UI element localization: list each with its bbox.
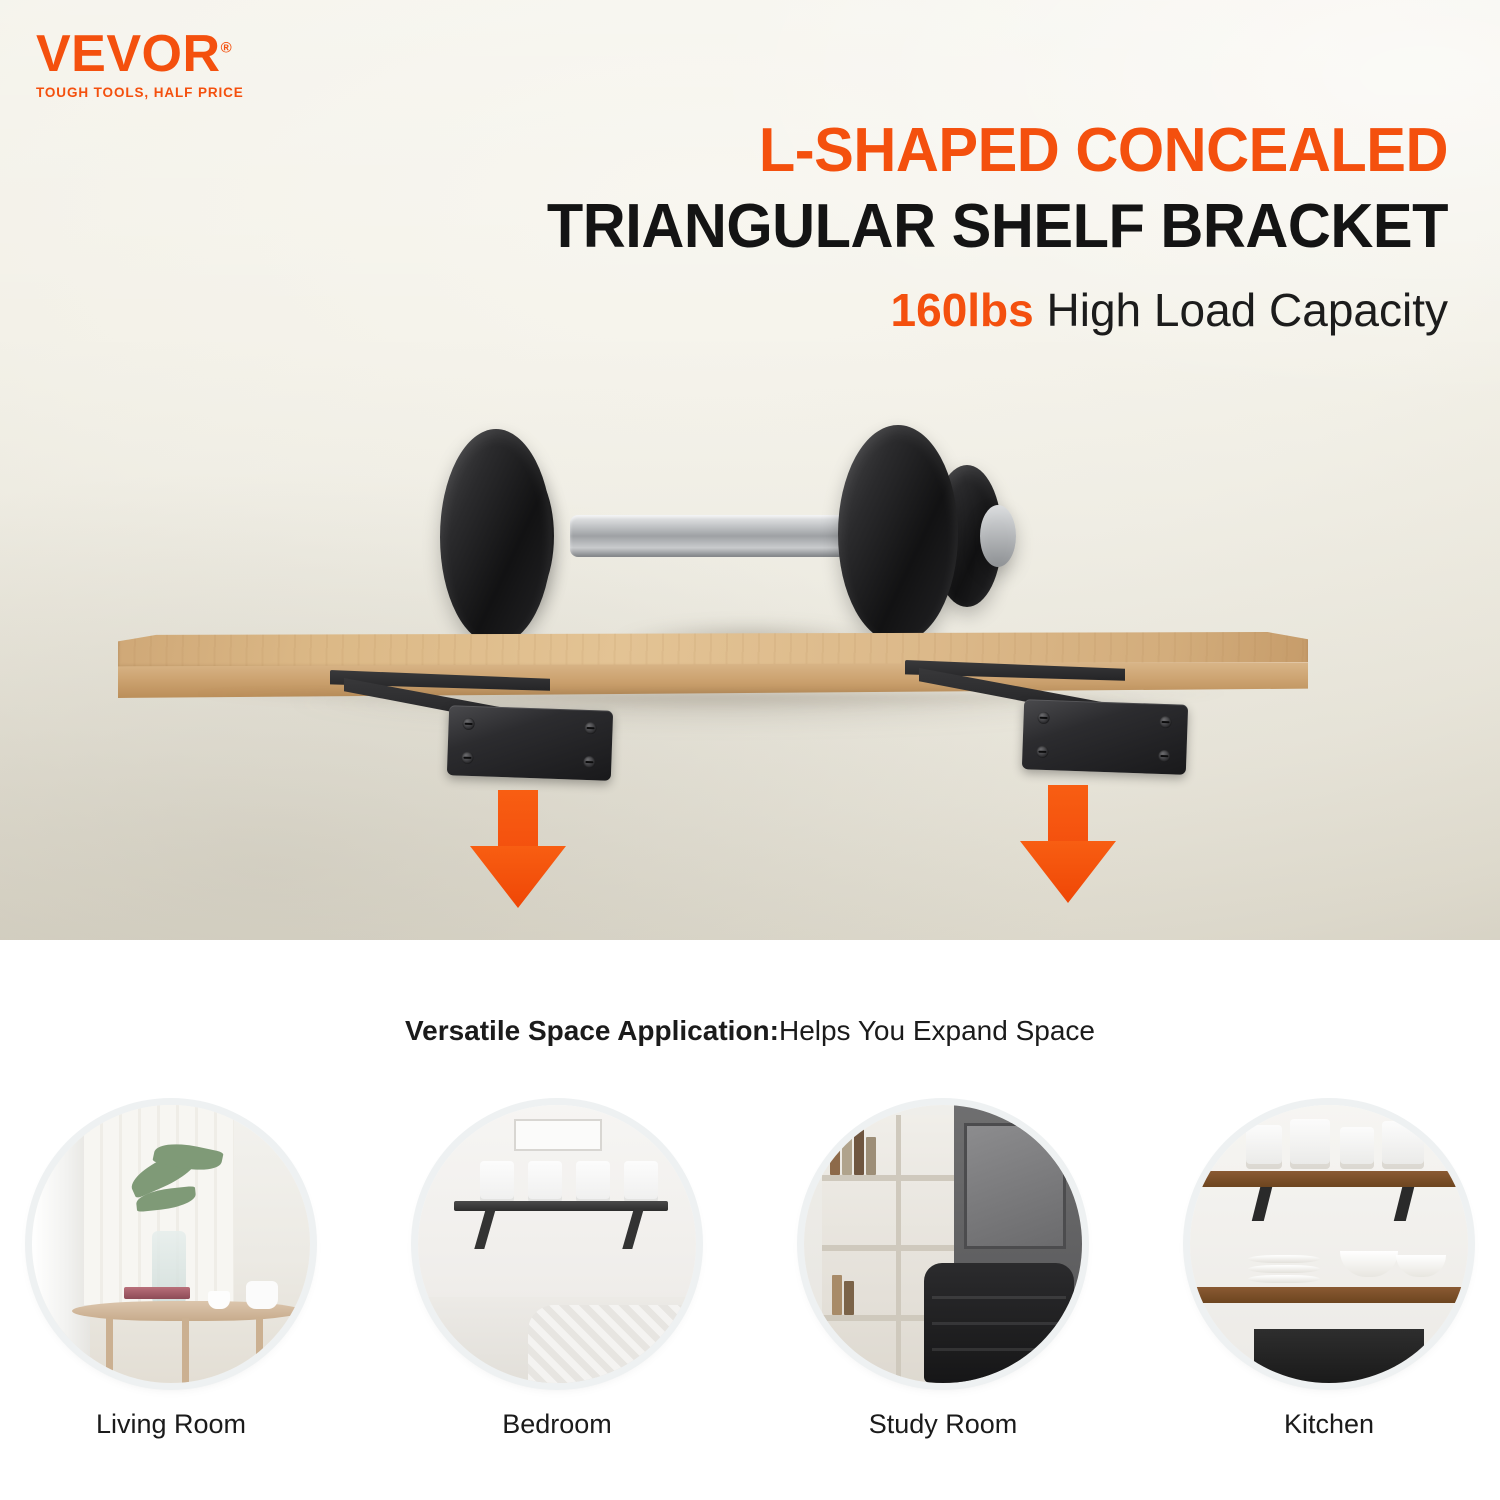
kitchen-photo — [1190, 1105, 1468, 1383]
section-title-bold: Versatile Space Application: — [405, 1015, 779, 1046]
shelf-bracket-left — [330, 670, 590, 780]
chair-seam — [932, 1296, 1066, 1299]
stacked-plates — [1248, 1265, 1320, 1273]
tile-label: Study Room — [804, 1409, 1082, 1440]
application-tile-bedroom: Bedroom — [418, 1105, 696, 1440]
capacity-label: High Load Capacity — [1034, 284, 1448, 336]
dumbbell-weight-right-outer — [838, 425, 958, 643]
book — [842, 1135, 852, 1175]
application-tile-study-room: Study Room — [804, 1105, 1082, 1440]
dumbbell-weight-left-outer — [440, 429, 552, 645]
book — [866, 1137, 876, 1175]
book — [124, 1287, 190, 1299]
storage-jar — [528, 1161, 562, 1203]
teapot — [246, 1281, 278, 1309]
hero-banner: VEVOR® TOUGH TOOLS, HALF PRICE L-SHAPED … — [0, 0, 1500, 940]
arrow-head — [470, 846, 566, 908]
section-title: Versatile Space Application:Helps You Ex… — [0, 1015, 1500, 1047]
shelf-bracket-icon — [1394, 1187, 1414, 1221]
cup — [208, 1291, 230, 1309]
screw-icon — [1037, 712, 1049, 724]
dumbbell-end-cap — [980, 505, 1016, 567]
brand-logo: VEVOR® TOUGH TOOLS, HALF PRICE — [36, 28, 296, 100]
registered-mark-icon: ® — [221, 40, 233, 57]
application-tile-kitchen: Kitchen — [1190, 1105, 1468, 1440]
shelf-vertical-divider — [896, 1115, 901, 1383]
table-leg — [256, 1317, 263, 1383]
storage-jar — [624, 1161, 658, 1203]
bowl — [1340, 1251, 1398, 1277]
shelf-bracket-icon — [1252, 1187, 1272, 1221]
arrow-stem — [1048, 785, 1088, 847]
down-arrow-icon — [1020, 785, 1116, 905]
bedroom-photo — [418, 1105, 696, 1383]
screw-icon — [462, 718, 474, 730]
tile-label: Living Room — [32, 1409, 310, 1440]
capacity-line: 160lbs High Load Capacity — [288, 285, 1448, 336]
screw-icon — [583, 756, 595, 768]
shelf-bracket-right — [905, 660, 1165, 770]
screw-icon — [1036, 746, 1048, 758]
application-tiles: Living Room Bedroom — [0, 1105, 1500, 1440]
dumbbell-illustration — [440, 415, 1050, 655]
screw-icon — [461, 752, 473, 764]
section-title-normal: Helps You Expand Space — [779, 1015, 1095, 1046]
glass-jar — [1340, 1127, 1374, 1169]
brand-tagline: TOUGH TOOLS, HALF PRICE — [36, 85, 296, 100]
curtain — [32, 1105, 90, 1383]
bowl — [1396, 1255, 1446, 1277]
screw-icon — [1159, 716, 1171, 728]
book — [830, 1131, 840, 1175]
headline-line-2: TRIANGULAR SHELF BRACKET — [334, 193, 1448, 261]
storage-jar — [576, 1161, 610, 1203]
counter-cabinet — [1254, 1329, 1424, 1383]
upper-wood-shelf — [1190, 1171, 1468, 1187]
bracket-wall-plate — [447, 705, 613, 781]
table-leg — [182, 1317, 189, 1383]
mirror — [964, 1123, 1066, 1249]
brand-name-text: VEVOR — [36, 25, 221, 83]
book — [854, 1129, 864, 1175]
headline-line-1: L-SHAPED CONCEALED — [334, 118, 1448, 183]
tile-label: Bedroom — [418, 1409, 696, 1440]
chair-seam — [932, 1348, 1066, 1351]
living-room-photo — [32, 1105, 310, 1383]
book — [844, 1281, 854, 1315]
down-arrow-icon — [470, 790, 566, 910]
application-tile-living-room: Living Room — [32, 1105, 310, 1440]
glass-jar — [1246, 1125, 1282, 1169]
arrow-stem — [498, 790, 538, 852]
application-section: Versatile Space Application:Helps You Ex… — [0, 940, 1500, 1500]
tile-label: Kitchen — [1190, 1409, 1468, 1440]
knit-blanket — [528, 1305, 696, 1383]
table-leg — [106, 1317, 113, 1383]
picture-frame — [514, 1119, 602, 1151]
glass-jar — [1382, 1121, 1424, 1169]
screw-icon — [584, 722, 596, 734]
arrow-head — [1020, 841, 1116, 903]
shelf-bracket-icon — [622, 1209, 643, 1249]
stacked-plates — [1248, 1275, 1320, 1283]
storage-jar — [480, 1161, 514, 1203]
book — [832, 1275, 842, 1315]
study-room-photo — [804, 1105, 1082, 1383]
chair-seam — [932, 1322, 1066, 1325]
bracket-wall-plate — [1022, 699, 1188, 775]
lower-wood-shelf — [1190, 1287, 1468, 1303]
glass-vase — [152, 1231, 186, 1311]
shelf-bracket-icon — [474, 1209, 495, 1249]
capacity-value: 160lbs — [891, 284, 1034, 336]
stacked-plates — [1248, 1255, 1320, 1263]
headline-block: L-SHAPED CONCEALED TRIANGULAR SHELF BRAC… — [288, 118, 1448, 336]
brand-name: VEVOR® — [36, 28, 232, 80]
glass-jar — [1290, 1119, 1330, 1169]
screw-icon — [1158, 750, 1170, 762]
